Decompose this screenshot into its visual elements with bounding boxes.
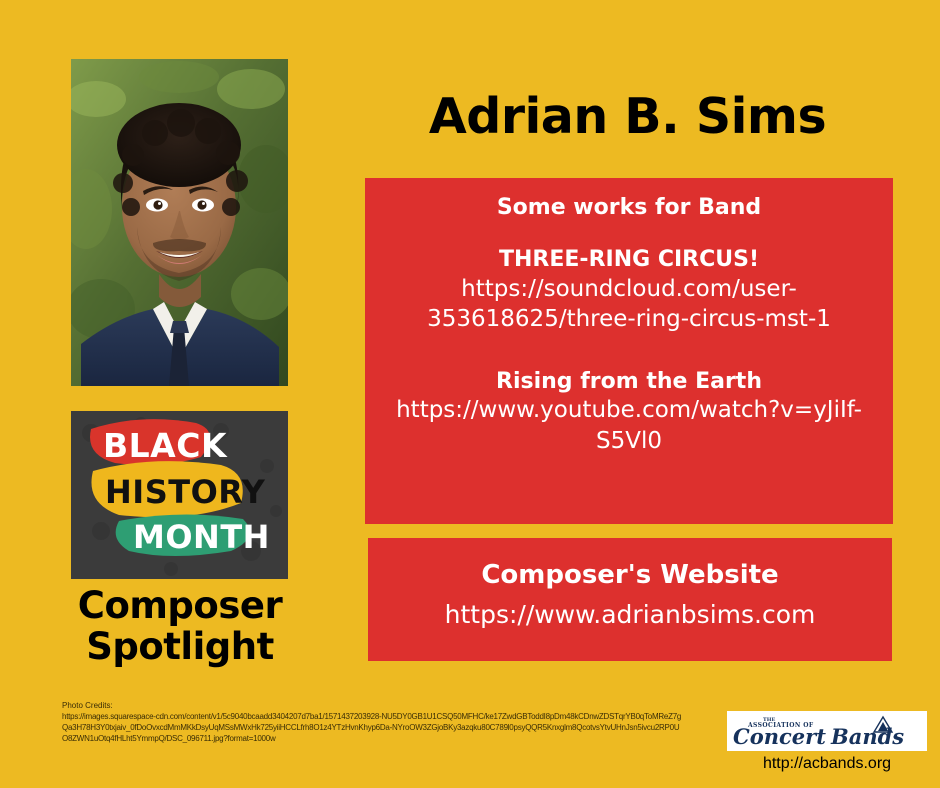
work-url-1[interactable]: https://soundcloud.com/user-353618625/th… [365,274,893,335]
works-panel-heading: Some works for Band [365,195,893,221]
work-title-1: THREE-RING CIRCUS! [365,247,893,273]
photo-credits: Photo Credits: https://images.squarespac… [62,700,682,744]
bhm-line3: MONTH [133,518,270,556]
acb-website-url[interactable]: http://acbands.org [727,755,927,773]
acb-logo-artwork: THE ASSOCIATION OF Concert Bands [727,711,927,751]
spacer [365,221,893,247]
photo-credits-url: https://images.squarespace-cdn.com/conte… [62,711,682,744]
work-url-2[interactable]: https://www.youtube.com/watch?v=yJiIf-S5… [365,395,893,456]
left-column: BLACK HISTORY MONTH Composer Spotlight [0,0,350,788]
portrait-illustration [71,59,288,386]
works-panel: Some works for Band THREE-RING CIRCUS! h… [365,178,893,524]
composer-spotlight-title: Composer Spotlight [40,585,320,668]
photo-credits-label: Photo Credits: [62,700,682,711]
website-panel: Composer's Website https://www.adrianbsi… [368,538,892,661]
spacer [365,335,893,369]
work-title-2: Rising from the Earth [365,369,893,395]
acb-logo[interactable]: THE ASSOCIATION OF Concert Bands [727,711,927,751]
black-history-month-illustration: BLACK HISTORY MONTH [71,411,288,579]
acb-logo-concert: Concert [733,724,826,749]
acb-footer: THE ASSOCIATION OF Concert Bands http://… [727,711,927,773]
acb-logo-bands: Bands [830,724,904,749]
composer-website-url[interactable]: https://www.adrianbsims.com [368,599,892,632]
composer-name-heading: Adrian B. Sims [360,88,895,145]
composer-portrait [71,59,288,386]
spotlight-line-1: Composer [40,585,320,626]
website-panel-heading: Composer's Website [368,560,892,591]
spotlight-line-2: Spotlight [40,626,320,667]
bhm-line1: BLACK [103,426,228,465]
bhm-line2: HISTORY [105,473,266,511]
black-history-month-graphic: BLACK HISTORY MONTH [71,411,288,579]
